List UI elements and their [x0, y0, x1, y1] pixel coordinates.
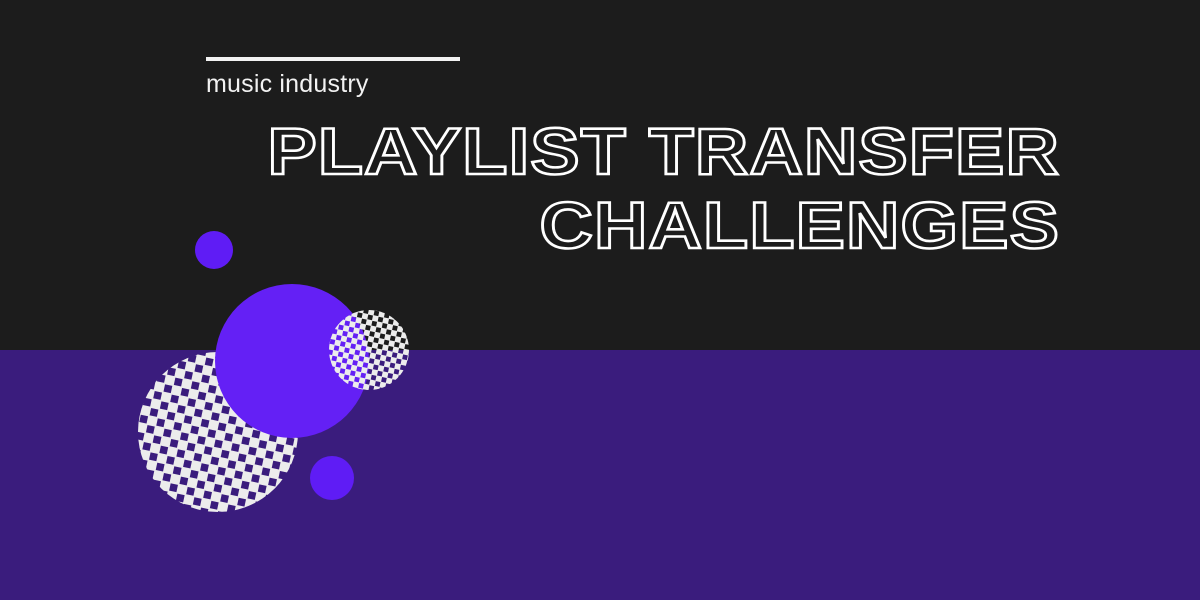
page-title-line-1: PLAYLIST TRANSFER: [30, 118, 1060, 184]
background-band-purple: [0, 350, 1200, 600]
promo-banner: music industry PLAYLIST TRANSFER CHALLEN…: [0, 0, 1200, 600]
page-title: PLAYLIST TRANSFER CHALLENGES: [140, 118, 1060, 258]
page-title-line-2: CHALLENGES: [30, 192, 1060, 258]
kicker-label: music industry: [206, 68, 369, 100]
kicker-rule: [206, 57, 460, 61]
